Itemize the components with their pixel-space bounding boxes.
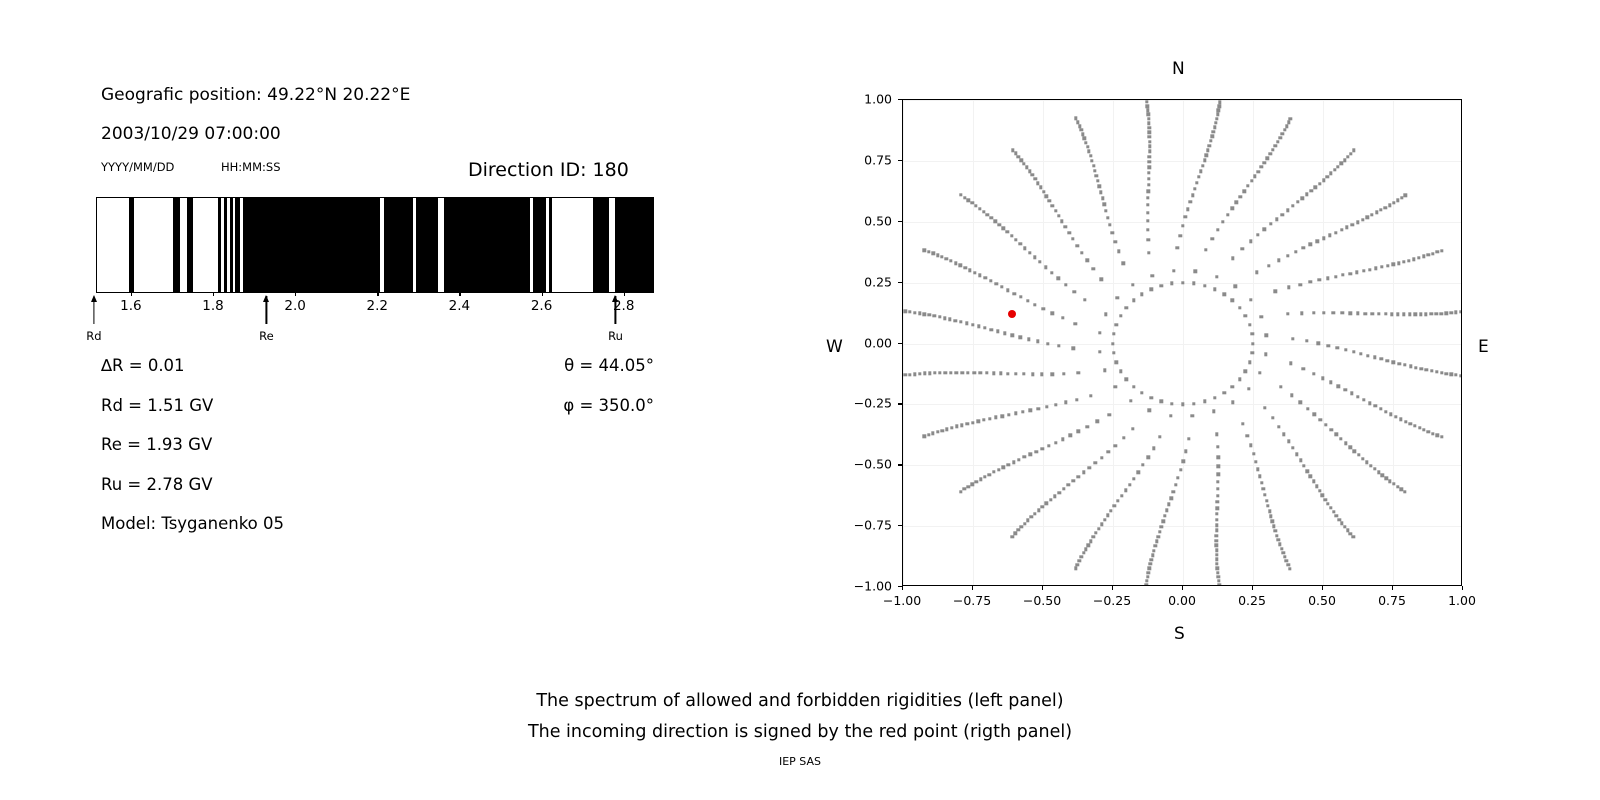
gridline-horizontal — [903, 344, 1461, 345]
direction-sample-dot — [1274, 290, 1277, 293]
direction-sample-dot — [1089, 394, 1092, 397]
direction-sample-dot — [1319, 418, 1322, 421]
polar-y-tick — [898, 99, 902, 100]
direction-sample-dot — [999, 372, 1002, 375]
direction-sample-dot — [1187, 437, 1190, 440]
direction-sample-dot — [1211, 237, 1214, 240]
direction-sample-dot — [1106, 216, 1109, 219]
direction-sample-dot — [978, 207, 981, 210]
direction-sample-dot — [1216, 480, 1219, 483]
direction-sample-dot — [1234, 285, 1237, 288]
caption-line-1: The spectrum of allowed and forbidden ri… — [0, 686, 1600, 717]
direction-sample-dot — [1098, 350, 1101, 353]
direction-sample-dot — [1140, 293, 1143, 296]
direction-sample-dot — [1150, 288, 1153, 291]
direction-sample-dot — [1403, 490, 1406, 493]
polar-y-tick-label: 0.50 — [834, 213, 892, 228]
direction-sample-dot — [1199, 169, 1202, 172]
direction-sample-dot — [1119, 314, 1122, 317]
direction-sample-dot — [1370, 213, 1373, 216]
direction-sample-dot — [1148, 130, 1151, 133]
direction-sample-dot — [1222, 293, 1225, 296]
direction-sample-dot — [1060, 219, 1063, 222]
direction-sample-dot — [1260, 481, 1263, 484]
direction-sample-dot — [1431, 252, 1434, 255]
direction-sample-dot — [1374, 267, 1377, 270]
polar-y-tick — [898, 586, 902, 587]
direction-sample-dot — [1329, 506, 1332, 509]
direction-sample-dot — [933, 314, 936, 317]
direction-sample-dot — [1051, 372, 1054, 375]
compass-north-label: N — [1172, 59, 1185, 79]
direction-sample-dot — [1057, 344, 1060, 347]
direction-sample-dot — [1285, 124, 1288, 127]
direction-sample-dot — [1155, 540, 1158, 543]
direction-sample-dot — [986, 213, 989, 216]
direction-sample-dot — [1333, 168, 1336, 171]
direction-sample-dot — [1147, 126, 1150, 129]
direction-sample-dot — [1404, 194, 1407, 197]
direction-sample-dot — [1158, 530, 1161, 533]
direction-sample-dot — [1276, 140, 1279, 143]
direction-sample-dot — [1125, 378, 1128, 381]
polar-x-tick — [1462, 586, 1463, 590]
direction-sample-dot — [1440, 371, 1443, 374]
footer-label: IEP SAS — [0, 755, 1600, 768]
direction-sample-dot — [1275, 534, 1278, 537]
direction-sample-dot — [1374, 404, 1377, 407]
direction-sample-dot — [1014, 412, 1017, 415]
direction-sample-dot — [1348, 446, 1351, 449]
direction-sample-dot — [931, 252, 934, 255]
direction-sample-dot — [1313, 413, 1316, 416]
direction-sample-dot — [1084, 547, 1087, 550]
direction-sample-dot — [1020, 525, 1023, 528]
direction-sample-dot — [1222, 391, 1225, 394]
direction-sample-dot — [1309, 475, 1312, 478]
direction-sample-dot — [1085, 259, 1088, 262]
direction-sample-dot — [1147, 183, 1150, 186]
direction-sample-dot — [1089, 154, 1092, 157]
caption-line-2: The incoming direction is signed by the … — [0, 717, 1600, 748]
direction-sample-dot — [1379, 208, 1382, 211]
direction-sample-dot — [1076, 244, 1079, 247]
direction-sample-dot — [1019, 159, 1022, 162]
direction-sample-dot — [955, 425, 958, 428]
direction-sample-dot — [1075, 398, 1078, 401]
direction-sample-dot — [1014, 152, 1017, 155]
direction-sample-dot — [1186, 207, 1189, 210]
direction-sample-dot — [1022, 162, 1025, 165]
direction-sample-dot — [1006, 288, 1009, 291]
polar-x-tick-label: 1.00 — [1448, 593, 1476, 608]
direction-sample-dot — [1231, 299, 1234, 302]
direction-sample-dot — [1038, 260, 1041, 263]
direction-sample-dot — [978, 274, 981, 277]
direction-sample-dot — [1195, 181, 1198, 184]
direction-sample-dot — [955, 371, 958, 374]
direction-sample-dot — [1430, 312, 1433, 315]
direction-sample-dot — [954, 319, 957, 322]
direction-sample-dot — [1440, 312, 1443, 315]
direction-sample-dot — [1365, 461, 1368, 464]
direction-sample-dot — [1217, 473, 1220, 476]
direction-sample-dot — [1289, 362, 1292, 365]
direction-sample-dot — [936, 430, 939, 433]
gridline-horizontal — [903, 161, 1461, 162]
direction-sample-dot — [960, 371, 963, 374]
direction-sample-dot — [1044, 266, 1047, 269]
direction-sample-dot — [1184, 215, 1187, 218]
polar-y-tick — [898, 343, 902, 344]
direction-sample-dot — [1409, 422, 1412, 425]
direction-sample-dot — [1170, 402, 1173, 405]
direction-sample-dot — [1230, 207, 1233, 210]
direction-sample-dot — [1170, 497, 1173, 500]
direction-sample-dot — [1098, 185, 1101, 188]
direction-sample-dot — [1302, 464, 1305, 467]
direction-sample-dot — [1117, 250, 1120, 253]
gridline-horizontal — [903, 100, 1461, 101]
direction-sample-dot — [1343, 158, 1346, 161]
direction-sample-dot — [1028, 170, 1031, 173]
direction-sample-dot — [1231, 257, 1234, 260]
direction-sample-dot — [1083, 298, 1086, 301]
direction-sample-dot — [1100, 523, 1103, 526]
direction-sample-dot — [1012, 292, 1015, 295]
direction-sample-dot — [1291, 446, 1294, 449]
direction-sample-dot — [1002, 466, 1005, 469]
direction-sample-dot — [1132, 385, 1135, 388]
direction-sample-dot — [1326, 502, 1329, 505]
direction-sample-dot — [1181, 224, 1184, 227]
direction-sample-dot — [1375, 211, 1378, 214]
direction-sample-dot — [1322, 178, 1325, 181]
direction-sample-dot — [1040, 372, 1043, 375]
direction-sample-dot — [1026, 519, 1029, 522]
direction-sample-dot — [1006, 372, 1009, 375]
direction-sample-dot — [923, 248, 926, 251]
direction-sample-dot — [1279, 385, 1282, 388]
polar-y-tick-label: 0.25 — [834, 274, 892, 289]
direction-sample-dot — [1414, 313, 1417, 316]
direction-sample-dot — [1314, 185, 1317, 188]
direction-sample-dot — [1344, 441, 1347, 444]
direction-sample-dot — [1384, 206, 1387, 209]
direction-sample-dot — [1239, 195, 1242, 198]
direction-sample-dot — [1084, 141, 1087, 144]
direction-sample-dot — [1086, 425, 1089, 428]
direction-sample-dot — [1356, 221, 1359, 224]
direction-sample-dot — [1368, 268, 1371, 271]
direction-sample-dot — [1218, 100, 1221, 103]
direction-sample-dot — [1017, 528, 1020, 531]
direction-sample-dot — [1322, 237, 1325, 240]
direction-sample-dot — [1216, 455, 1219, 458]
direction-sample-dot — [1206, 149, 1209, 152]
direction-sample-dot — [1122, 436, 1125, 439]
direction-sample-dot — [1266, 504, 1269, 507]
direction-sample-dot — [1181, 403, 1184, 406]
direction-sample-dot — [1380, 265, 1383, 268]
direction-sample-dot — [1250, 179, 1253, 182]
direction-sample-dot — [1082, 471, 1085, 474]
direction-sample-dot — [1091, 535, 1094, 538]
direction-sample-dot — [1353, 450, 1356, 453]
direction-sample-dot — [1197, 175, 1200, 178]
direction-sample-dot — [1045, 502, 1048, 505]
direction-sample-dot — [928, 313, 931, 316]
direction-sample-dot — [1154, 544, 1157, 547]
direction-sample-dot — [967, 485, 970, 488]
direction-sample-dot — [1146, 456, 1149, 459]
direction-sample-dot — [1094, 531, 1097, 534]
direction-sample-dot — [984, 276, 987, 279]
direction-sample-dot — [1203, 400, 1206, 403]
gridline-vertical — [1183, 100, 1184, 585]
direction-sample-dot — [1362, 398, 1365, 401]
direction-sample-dot — [908, 373, 911, 376]
direction-sample-dot — [1028, 251, 1031, 254]
direction-sample-dot — [1390, 313, 1393, 316]
direction-sample-dot — [1090, 159, 1093, 162]
direction-sample-dot — [1302, 246, 1305, 249]
direction-sample-dot — [1349, 152, 1352, 155]
direction-sample-dot — [1034, 450, 1037, 453]
direction-sample-dot — [1216, 500, 1219, 503]
direction-sample-dot — [1274, 144, 1277, 147]
figure-caption: The spectrum of allowed and forbidden ri… — [0, 686, 1600, 748]
direction-sample-dot — [1435, 370, 1438, 373]
direction-sample-dot — [1341, 273, 1344, 276]
direction-sample-dot — [997, 223, 1000, 226]
direction-sample-dot — [1371, 312, 1374, 315]
direction-sample-dot — [1054, 441, 1057, 444]
direction-sample-dot — [1147, 113, 1150, 116]
direction-sample-dot — [1217, 575, 1220, 578]
direction-sample-dot — [971, 421, 974, 424]
direction-sample-dot — [1256, 468, 1259, 471]
direction-sample-dot — [1422, 255, 1425, 258]
selected-direction-point — [1008, 310, 1016, 318]
direction-sample-dot — [1352, 535, 1355, 538]
direction-sample-dot — [1286, 312, 1289, 315]
direction-sample-dot — [1302, 367, 1305, 370]
direction-sample-dot — [936, 253, 939, 256]
direction-sample-dot — [1086, 544, 1089, 547]
direction-sample-dot — [1051, 204, 1054, 207]
direction-sample-dot — [1216, 445, 1219, 448]
direction-sample-dot — [1362, 269, 1365, 272]
direction-sample-dot — [1045, 195, 1048, 198]
direction-sample-dot — [923, 435, 926, 438]
direction-sample-dot — [1093, 169, 1096, 172]
direction-sample-dot — [1057, 277, 1060, 280]
direction-sample-dot — [1172, 490, 1175, 493]
direction-sample-dot — [1420, 367, 1423, 370]
direction-sample-dot — [1114, 385, 1117, 388]
direction-sample-dot — [1112, 351, 1115, 354]
direction-sample-dot — [1106, 514, 1109, 517]
direction-sample-dot — [989, 279, 992, 282]
direction-sample-dot — [1398, 362, 1401, 365]
direction-sample-dot — [1000, 285, 1003, 288]
direction-sample-dot — [1148, 155, 1151, 158]
direction-sample-dot — [1031, 173, 1034, 176]
direction-sample-dot — [1246, 434, 1249, 437]
polar-y-tick-label: 0.00 — [834, 335, 892, 350]
direction-sample-dot — [1265, 334, 1268, 337]
direction-sample-dot — [1216, 494, 1219, 497]
polar-y-tick — [898, 525, 902, 526]
direction-sample-dot — [1445, 372, 1448, 375]
direction-sample-dot — [913, 311, 916, 314]
direction-sample-dot — [985, 371, 988, 374]
polar-x-tick — [1042, 586, 1043, 590]
direction-sample-dot — [1306, 469, 1309, 472]
direction-sample-dot — [1141, 463, 1144, 466]
direction-sample-dot — [1215, 558, 1218, 561]
direction-sample-dot — [1271, 148, 1274, 151]
direction-sample-dot — [1017, 155, 1020, 158]
direction-sample-dot — [1308, 280, 1311, 283]
direction-sample-dot — [1282, 433, 1285, 436]
polar-plot-frame — [902, 99, 1462, 586]
direction-sample-dot — [1440, 249, 1443, 252]
direction-sample-dot — [1146, 104, 1149, 107]
direction-sample-dot — [1212, 130, 1215, 133]
polar-x-tick — [1182, 586, 1183, 590]
direction-sample-dot — [1277, 258, 1280, 261]
direction-sample-dot — [1160, 284, 1163, 287]
direction-sample-dot — [1299, 458, 1302, 461]
direction-sample-dot — [1274, 529, 1277, 532]
direction-sample-dot — [1263, 493, 1266, 496]
direction-sample-dot — [904, 310, 907, 313]
direction-sample-dot — [1033, 303, 1036, 306]
direction-sample-dot — [1317, 342, 1320, 345]
direction-sample-dot — [913, 372, 916, 375]
direction-sample-dot — [1103, 518, 1106, 521]
polar-y-tick-label: −1.00 — [834, 579, 892, 594]
direction-sample-dot — [1001, 227, 1004, 230]
direction-sample-dot — [1053, 495, 1056, 498]
direction-sample-dot — [1215, 117, 1218, 120]
direction-sample-dot — [948, 318, 951, 321]
direction-sample-dot — [966, 422, 969, 425]
direction-sample-dot — [1208, 144, 1211, 147]
direction-sample-dot — [1148, 145, 1151, 148]
direction-sample-dot — [1067, 231, 1070, 234]
direction-sample-dot — [1061, 437, 1064, 440]
direction-sample-dot — [1215, 523, 1218, 526]
direction-sample-dot — [1287, 440, 1290, 443]
direction-sample-dot — [1287, 286, 1290, 289]
compass-east-label: E — [1478, 337, 1489, 357]
direction-sample-dot — [1216, 567, 1219, 570]
direction-sample-dot — [977, 420, 980, 423]
direction-sample-dot — [1329, 172, 1332, 175]
direction-sample-dot — [1082, 551, 1085, 554]
direction-sample-dot — [1088, 466, 1091, 469]
direction-sample-dot — [1216, 113, 1219, 116]
direction-sample-dot — [959, 490, 962, 493]
direction-sample-dot — [904, 373, 907, 376]
direction-sample-dot — [1101, 196, 1104, 199]
direction-sample-dot — [1241, 422, 1244, 425]
direction-sample-dot — [1315, 484, 1318, 487]
gridline-vertical — [973, 100, 974, 585]
direction-sample-dot — [982, 210, 985, 213]
direction-sample-dot — [1191, 414, 1194, 417]
direction-sample-dot — [949, 371, 952, 374]
direction-sample-dot — [1265, 499, 1268, 502]
direction-sample-dot — [1031, 372, 1034, 375]
direction-sample-dot — [1147, 177, 1150, 180]
direction-sample-dot — [1204, 248, 1207, 251]
direction-sample-dot — [1029, 409, 1032, 412]
direction-sample-dot — [1140, 391, 1143, 394]
direction-sample-dot — [1170, 282, 1173, 285]
direction-sample-dot — [1384, 312, 1387, 315]
direction-sample-dot — [1064, 401, 1067, 404]
direction-sample-dot — [971, 483, 974, 486]
direction-sample-dot — [1271, 520, 1274, 523]
direction-sample-dot — [1379, 357, 1382, 360]
direction-sample-dot — [1294, 250, 1297, 253]
direction-sample-dot — [1057, 491, 1060, 494]
direction-sample-dot — [1288, 567, 1291, 570]
direction-sample-dot — [1194, 270, 1197, 273]
direction-sample-dot — [1344, 388, 1347, 391]
direction-sample-dot — [1209, 139, 1212, 142]
direction-sample-dot — [1254, 460, 1257, 463]
direction-sample-dot — [1108, 223, 1111, 226]
direction-sample-dot — [1403, 363, 1406, 366]
direction-sample-dot — [1001, 414, 1004, 417]
direction-sample-dot — [968, 268, 971, 271]
direction-sample-dot — [1257, 170, 1260, 173]
direction-sample-dot — [1366, 354, 1369, 357]
direction-sample-dot — [1427, 253, 1430, 256]
direction-sample-dot — [1073, 290, 1076, 293]
direction-sample-dot — [1231, 385, 1234, 388]
direction-sample-dot — [1047, 444, 1050, 447]
direction-sample-dot — [1148, 135, 1151, 138]
direction-sample-dot — [1361, 457, 1364, 460]
direction-sample-dot — [938, 371, 941, 374]
direction-sample-dot — [1077, 475, 1080, 478]
direction-sample-dot — [1114, 444, 1117, 447]
direction-sample-dot — [1113, 240, 1116, 243]
direction-sample-dot — [1181, 460, 1184, 463]
direction-sample-dot — [1253, 175, 1256, 178]
direction-sample-dot — [1148, 160, 1151, 163]
direction-sample-dot — [1218, 583, 1221, 585]
direction-sample-dot — [1109, 509, 1112, 512]
direction-sample-dot — [944, 371, 947, 374]
direction-sample-dot — [1156, 535, 1159, 538]
direction-sample-dot — [1216, 228, 1219, 231]
direction-sample-dot — [1007, 413, 1010, 416]
direction-sample-dot — [1373, 467, 1376, 470]
direction-sample-dot — [1301, 196, 1304, 199]
direction-sample-dot — [1248, 361, 1251, 364]
direction-sample-dot — [1268, 152, 1271, 155]
direction-sample-dot — [1286, 209, 1289, 212]
direction-sample-dot — [1327, 344, 1330, 347]
direction-sample-dot — [1095, 174, 1098, 177]
